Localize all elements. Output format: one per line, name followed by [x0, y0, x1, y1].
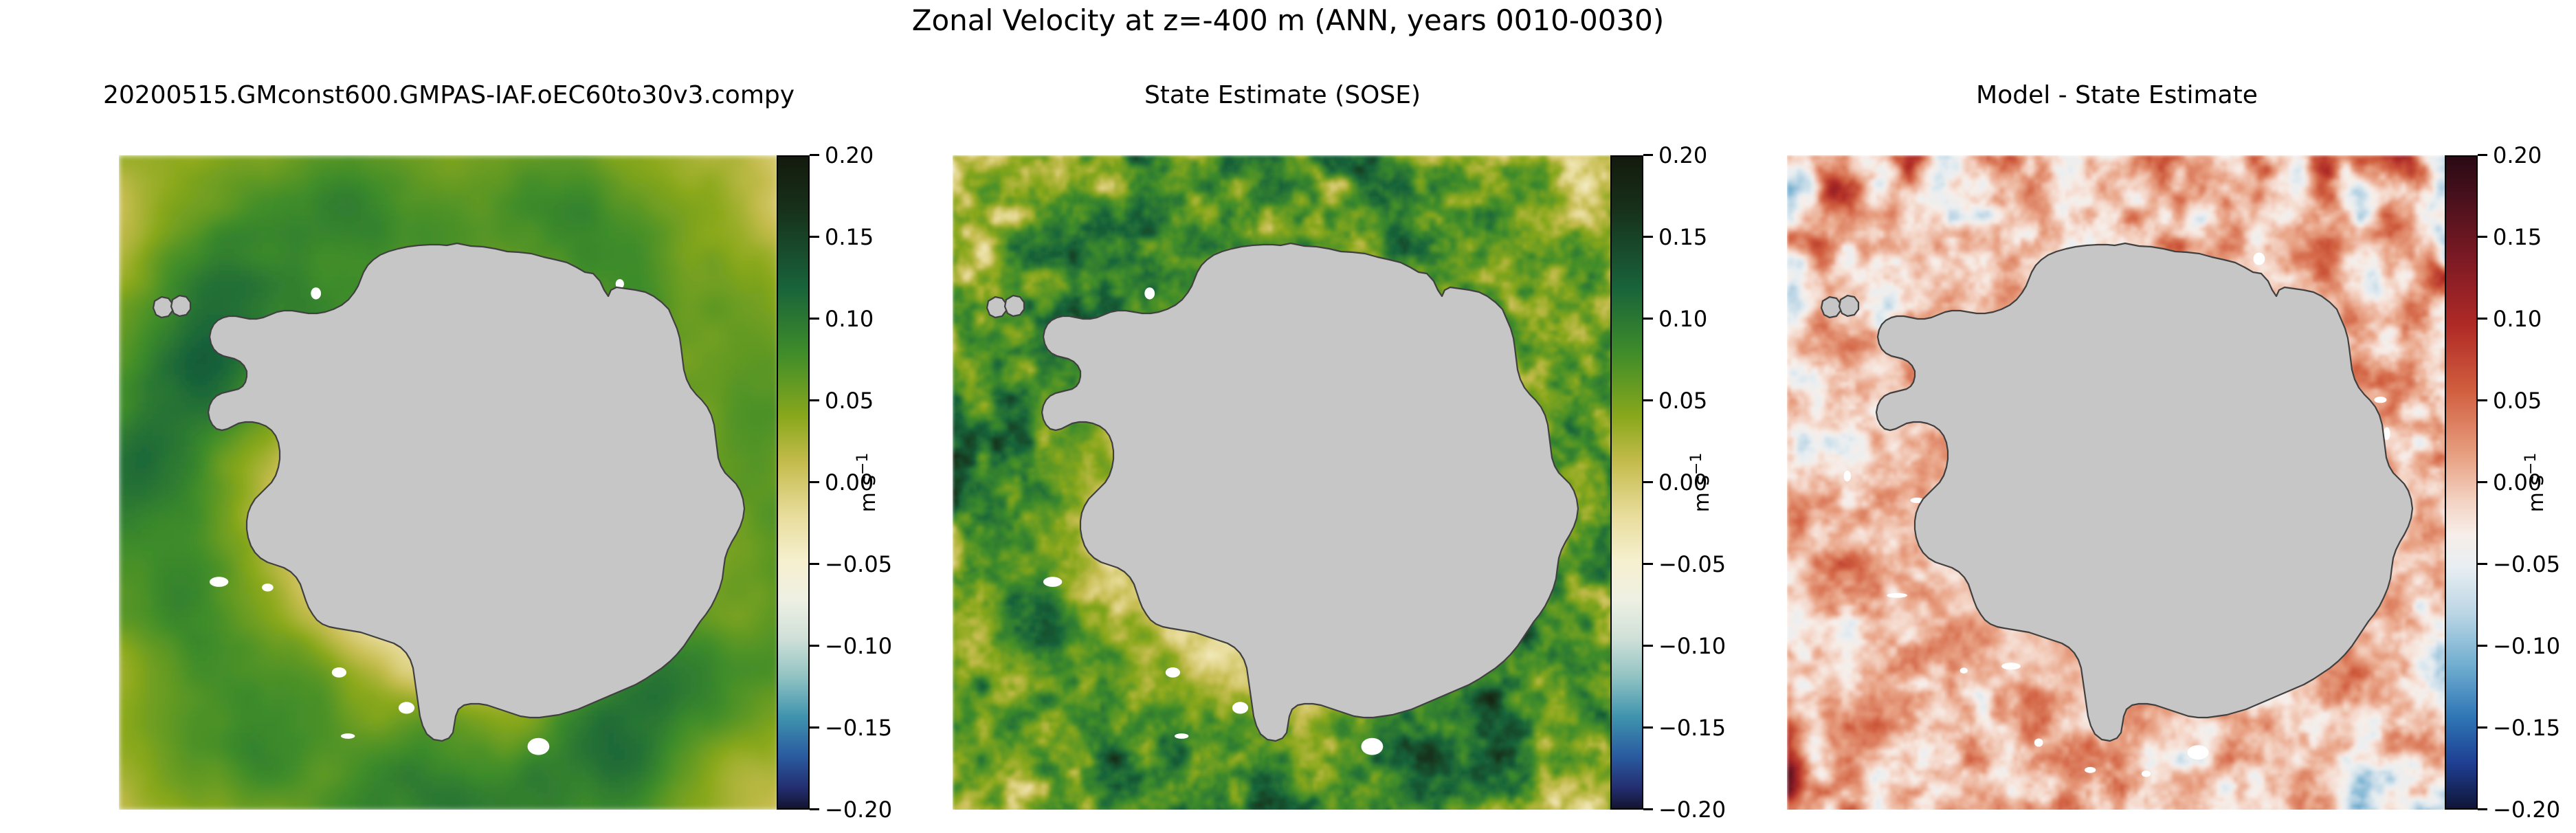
colorbar-tick-label: 0.15 [1658, 223, 1707, 252]
colorbar-tick-mark [810, 808, 819, 810]
colorbar-tick-mark [1643, 481, 1653, 483]
colorbar-tick-label: −0.20 [825, 795, 892, 824]
colorbar-gradient-model [777, 155, 810, 810]
colorbar-tick-mark [810, 236, 819, 238]
map-model[interactable] [119, 155, 779, 810]
colorbar-gradient-difference [2445, 155, 2478, 810]
colorbar-tick-mark [810, 318, 819, 320]
colorbar-tick-mark [810, 399, 819, 401]
colorbar-tick-label: 0.20 [1658, 141, 1707, 170]
panel-title-sose: State Estimate (SOSE) [836, 81, 1729, 110]
map-field-difference [1787, 155, 2447, 810]
colorbar-tick-mark [1643, 563, 1653, 565]
panel-title-difference: Model - State Estimate [1670, 81, 2564, 110]
panel-sose: State Estimate (SOSE) 0.200.150.100.050.… [953, 155, 1612, 810]
colorbar-tick-mark [2478, 318, 2487, 320]
colorbar-tick-mark [2478, 399, 2487, 401]
colorbar-tick-label: −0.15 [825, 713, 892, 742]
colorbar-tick-label: 0.10 [1658, 304, 1707, 333]
colorbar-unit-base: m s [856, 475, 880, 512]
colorbar-tick-mark [810, 645, 819, 647]
colorbar-tick-label: −0.20 [2493, 795, 2560, 824]
colorbar-unit-model: m s−1 [854, 453, 880, 513]
panel-title-model: 20200515.GMconst600.GMPAS-IAF.oEC60to30v… [2, 81, 896, 110]
colorbar-unit-exponent: −1 [2522, 453, 2540, 475]
colorbar-tick-mark [810, 481, 819, 483]
colorbar-unit-sose: m s−1 [1688, 453, 1714, 513]
colorbar-tick-mark [1643, 318, 1653, 320]
colorbar-tick-label: −0.20 [1658, 795, 1726, 824]
figure-canvas: Zonal Velocity at z=-400 m (ANN, years 0… [0, 0, 2576, 833]
colorbar-tick-label: −0.15 [2493, 713, 2560, 742]
map-field-sose [953, 155, 1612, 810]
colorbar-tick-label: −0.10 [1658, 632, 1726, 660]
colorbar-difference: 0.200.150.100.050.00−0.05−0.10−0.15−0.20… [2445, 155, 2562, 810]
colorbar-unit-base: m s [2524, 475, 2549, 512]
colorbar-tick-mark [2478, 645, 2487, 647]
colorbar-gradient-sose [1610, 155, 1643, 810]
colorbar-tick-mark [2478, 154, 2487, 156]
colorbar-tick-mark [2478, 481, 2487, 483]
colorbar-tick-label: 0.05 [2493, 386, 2542, 415]
colorbar-tick-mark [2478, 726, 2487, 729]
colorbar-tick-label: −0.15 [1658, 713, 1726, 742]
colorbar-tick-label: 0.05 [1658, 386, 1707, 415]
colorbar-unit-base: m s [1690, 475, 1714, 512]
colorbar-tick-mark [1643, 726, 1653, 729]
colorbar-unit-exponent: −1 [1688, 453, 1705, 475]
colorbar-tick-label: 0.20 [825, 141, 874, 170]
colorbar-sose: 0.200.150.100.050.00−0.05−0.10−0.15−0.20… [1610, 155, 1727, 810]
panel-model: 20200515.GMconst600.GMPAS-IAF.oEC60to30v… [119, 155, 779, 810]
colorbar-tick-mark [2478, 563, 2487, 565]
colorbar-tick-label: 0.05 [825, 386, 874, 415]
colorbar-tick-mark [810, 154, 819, 156]
colorbar-model: 0.200.150.100.050.00−0.05−0.10−0.15−0.20… [777, 155, 893, 810]
map-difference[interactable] [1787, 155, 2447, 810]
colorbar-tick-label: 0.15 [2493, 223, 2542, 252]
colorbar-tick-label: 0.20 [2493, 141, 2542, 170]
colorbar-tick-mark [1643, 645, 1653, 647]
colorbar-tick-label: −0.10 [2493, 632, 2560, 660]
colorbar-tick-label: −0.05 [825, 550, 892, 579]
colorbar-tick-label: −0.05 [2493, 550, 2560, 579]
colorbar-tick-label: 0.10 [825, 304, 874, 333]
colorbar-tick-mark [1643, 154, 1653, 156]
colorbar-tick-mark [2478, 808, 2487, 810]
colorbar-tick-mark [810, 726, 819, 729]
figure-title: Zonal Velocity at z=-400 m (ANN, years 0… [0, 4, 2576, 37]
colorbar-tick-label: 0.10 [2493, 304, 2542, 333]
map-sose[interactable] [953, 155, 1612, 810]
colorbar-tick-label: 0.15 [825, 223, 874, 252]
colorbar-tick-mark [1643, 399, 1653, 401]
colorbar-unit-difference: m s−1 [2522, 453, 2549, 513]
map-field-model [119, 155, 779, 810]
colorbar-tick-label: −0.10 [825, 632, 892, 660]
colorbar-tick-mark [1643, 808, 1653, 810]
colorbar-tick-mark [810, 563, 819, 565]
colorbar-tick-label: −0.05 [1658, 550, 1726, 579]
colorbar-tick-mark [1643, 236, 1653, 238]
colorbar-unit-exponent: −1 [854, 453, 871, 475]
panel-difference: Model - State Estimate 0.200.150.100.050… [1787, 155, 2447, 810]
colorbar-tick-mark [2478, 236, 2487, 238]
